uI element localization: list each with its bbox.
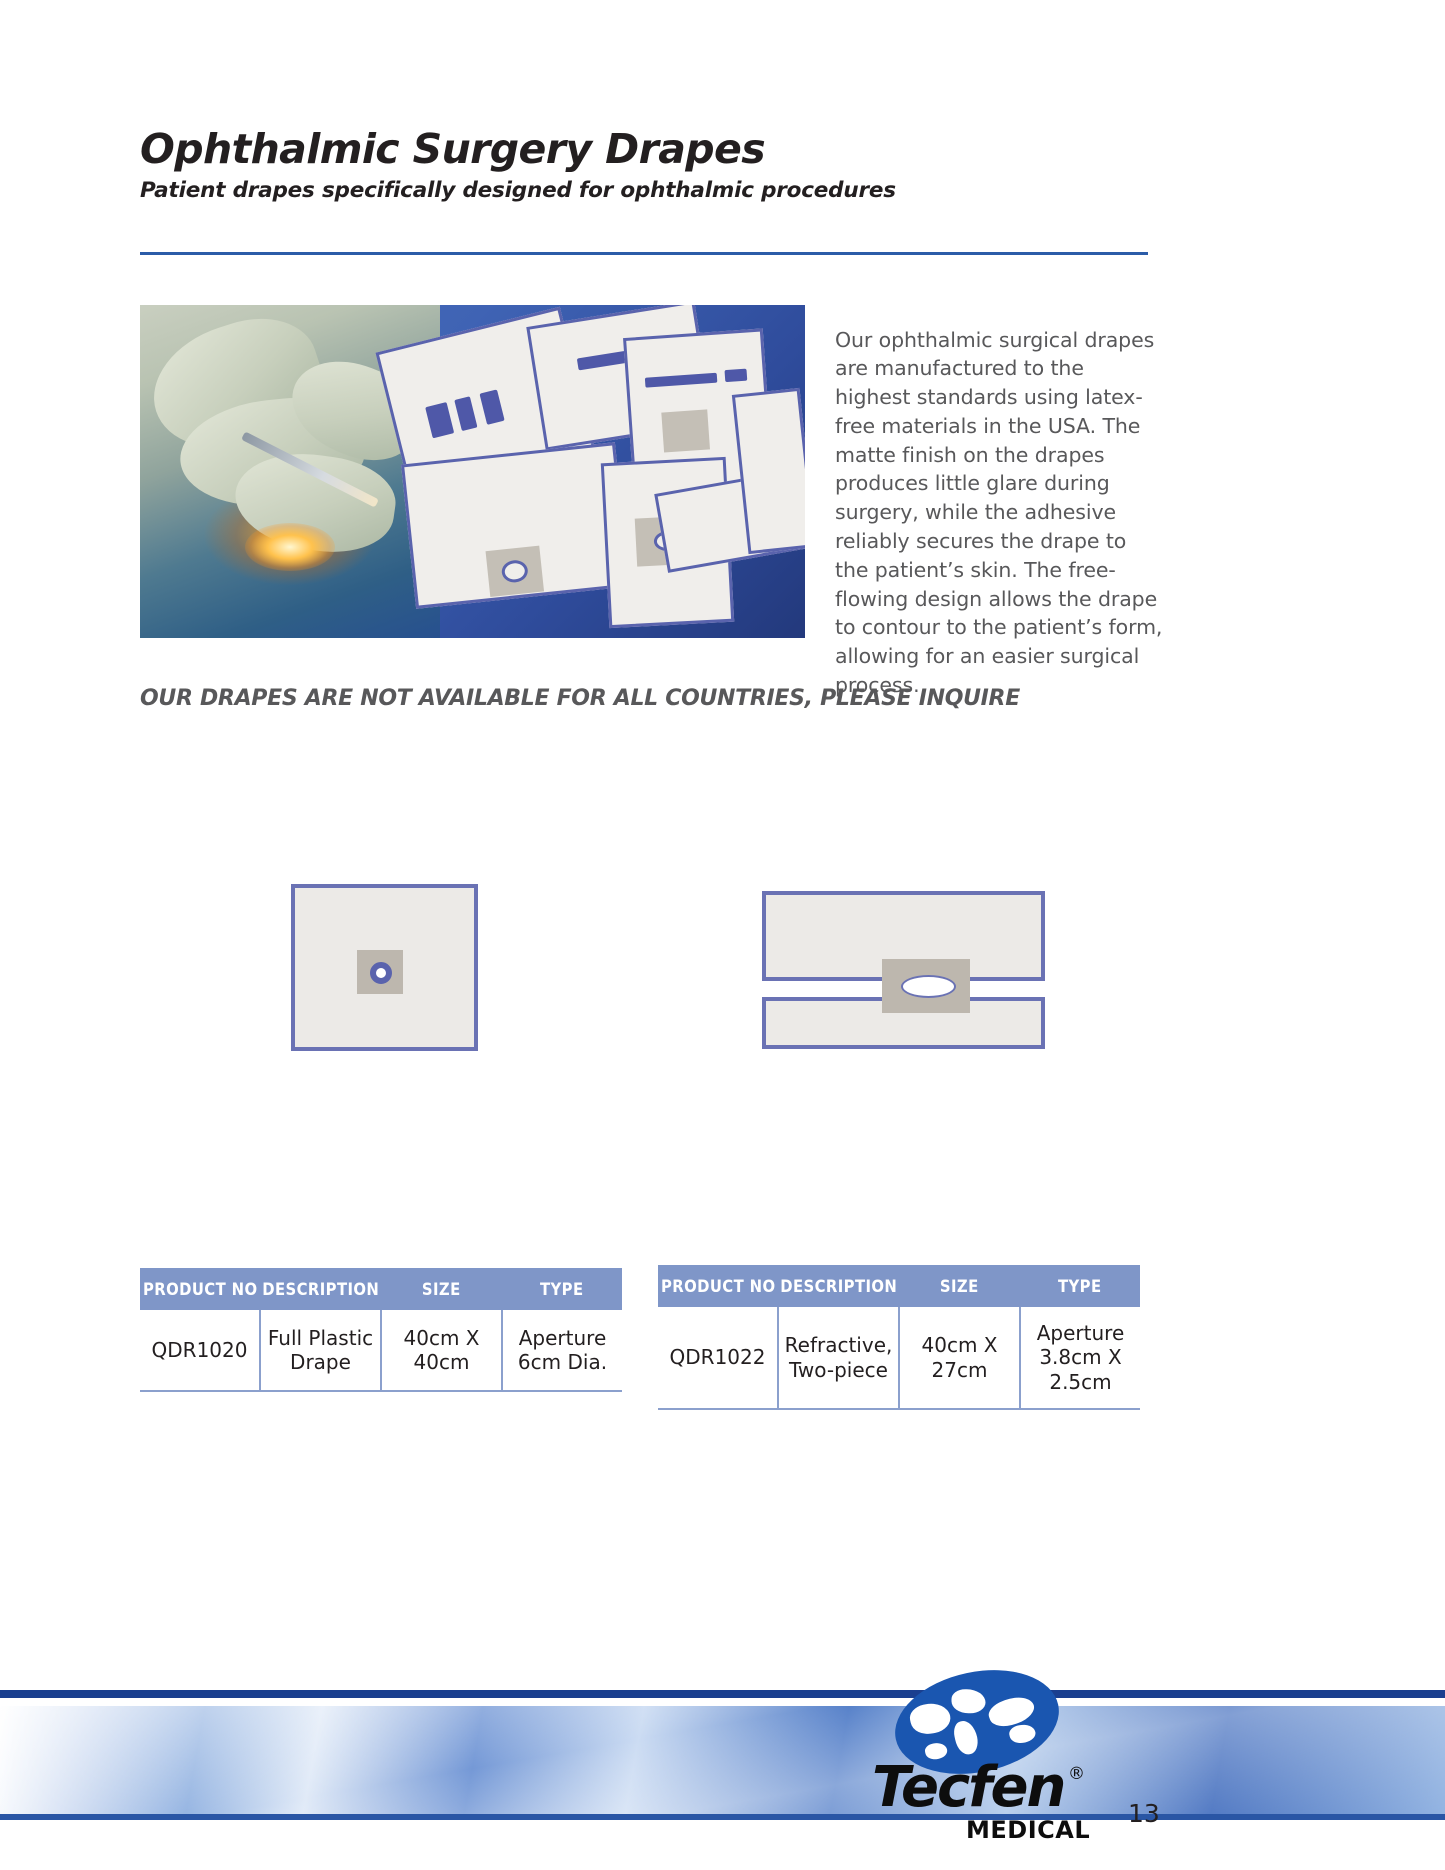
availability-notice: OUR DRAPES ARE NOT AVAILABLE FOR ALL COU… xyxy=(140,686,1020,711)
footer-sheen xyxy=(0,1706,1445,1816)
column-header-type: TYPE xyxy=(502,1268,623,1310)
cell-type: Aperture 6cm Dia. xyxy=(503,1310,622,1390)
drape-sample xyxy=(401,442,630,609)
cell-product-no: QDR1020 xyxy=(140,1310,261,1390)
brand-subtitle: MEDICAL xyxy=(966,1816,1090,1844)
cell-size: 40cm X 40cm xyxy=(382,1310,503,1390)
light-flare xyxy=(245,523,335,571)
footer-band xyxy=(0,1662,1445,1870)
brand-wordmark: Tecfen xyxy=(872,1760,1064,1816)
column-header-product-no: PRODUCT NO xyxy=(140,1268,261,1310)
cell-description: Refractive, Two-piece xyxy=(779,1307,900,1408)
product-table-qdr1022: PRODUCT NO DESCRIPTION SIZE TYPE QDR1022… xyxy=(658,1265,1140,1410)
column-header-product-no: PRODUCT NO xyxy=(658,1265,779,1307)
table-row: QDR1020 Full Plastic Drape 40cm X 40cm A… xyxy=(140,1310,622,1392)
aperture-hole-icon xyxy=(370,962,392,984)
page-subtitle: Patient drapes specifically designed for… xyxy=(140,179,1150,203)
full-plastic-drape-diagram xyxy=(291,884,478,1051)
registered-trademark-icon: ® xyxy=(1068,1764,1085,1784)
cell-product-no: QDR1022 xyxy=(658,1307,779,1408)
table-header-row: PRODUCT NO DESCRIPTION SIZE TYPE xyxy=(140,1268,622,1310)
footer-base xyxy=(0,1820,1445,1870)
page-title: Ophthalmic Surgery Drapes xyxy=(140,128,1150,171)
column-header-size: SIZE xyxy=(381,1268,502,1310)
header-divider xyxy=(140,252,1148,255)
tecfen-logo: Tecfen ® MEDICAL xyxy=(872,1672,1102,1852)
page-number: 13 xyxy=(1128,1799,1160,1828)
cell-size: 40cm X 27cm xyxy=(900,1307,1021,1408)
column-header-description: DESCRIPTION xyxy=(779,1265,900,1307)
aperture-slit-icon xyxy=(901,975,956,998)
refractive-two-piece-drape-diagram xyxy=(762,891,1045,1051)
footer-stripe-top xyxy=(0,1690,1445,1698)
table-header-row: PRODUCT NO DESCRIPTION SIZE TYPE xyxy=(658,1265,1140,1307)
intro-paragraph: Our ophthalmic surgical drapes are manuf… xyxy=(835,326,1165,700)
column-header-size: SIZE xyxy=(899,1265,1020,1307)
cell-type: Aperture 3.8cm X 2.5cm xyxy=(1021,1307,1140,1408)
table-row: QDR1022 Refractive, Two-piece 40cm X 27c… xyxy=(658,1307,1140,1410)
column-header-type: TYPE xyxy=(1020,1265,1141,1307)
cell-description: Full Plastic Drape xyxy=(261,1310,382,1390)
column-header-description: DESCRIPTION xyxy=(261,1268,382,1310)
product-table-qdr1020: PRODUCT NO DESCRIPTION SIZE TYPE QDR1020… xyxy=(140,1268,622,1392)
surgery-photo xyxy=(140,305,805,638)
page-header: Ophthalmic Surgery Drapes Patient drapes… xyxy=(140,128,1150,203)
